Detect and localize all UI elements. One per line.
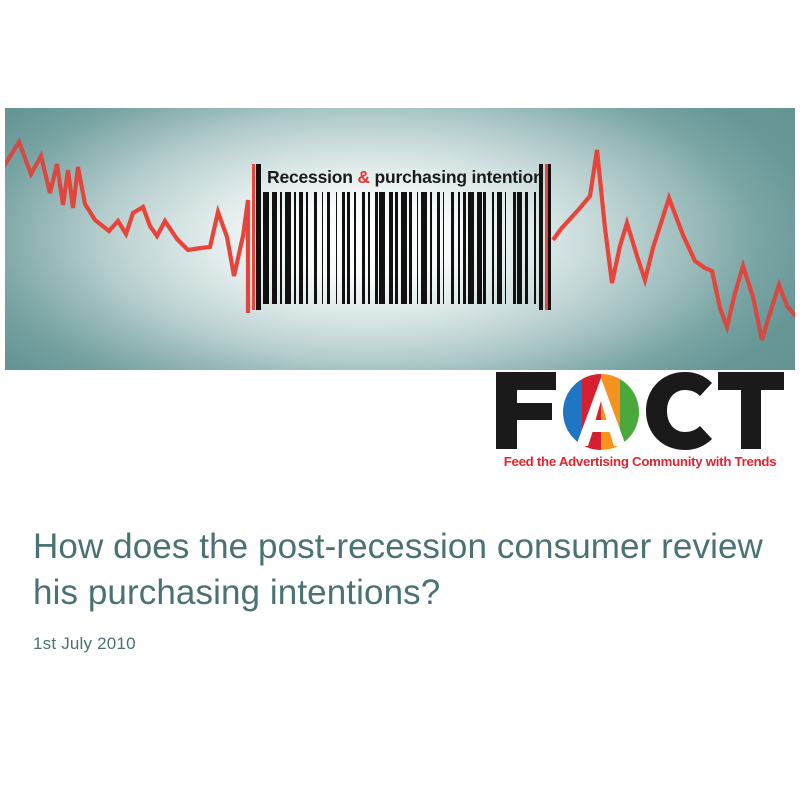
barcode-bar xyxy=(395,192,398,304)
barcode-guard-bar xyxy=(548,164,551,310)
barcode-graphic: Recession & purchasing intention xyxy=(243,164,553,309)
barcode-bar xyxy=(342,192,345,304)
title-block: How does the post-recession consumer rev… xyxy=(33,524,773,654)
barcode-guard-bar xyxy=(256,164,261,310)
fact-letter-f xyxy=(496,372,556,449)
barcode-bar xyxy=(285,192,291,304)
barcode-bar xyxy=(525,192,528,304)
fact-tagline: Feed the Advertising Community with Tren… xyxy=(490,454,790,469)
barcode-bar xyxy=(437,192,440,304)
barcode-bar xyxy=(327,192,330,304)
barcode-bar xyxy=(492,192,494,304)
barcode-bar xyxy=(443,192,445,304)
barcode-bar xyxy=(375,192,378,304)
barcode-bar xyxy=(401,192,407,304)
barcode-bar xyxy=(517,192,522,304)
fact-wordmark xyxy=(490,368,790,453)
barcode-bar xyxy=(379,192,385,304)
barcode-bars xyxy=(243,192,553,304)
barcode-bar xyxy=(534,192,536,304)
slide-date: 1st July 2010 xyxy=(33,634,773,654)
barcode-bar xyxy=(451,192,454,304)
barcode-bar xyxy=(362,192,365,304)
fact-letter-c xyxy=(646,372,712,450)
fact-letter-t xyxy=(718,372,784,449)
barcode-bar xyxy=(468,192,474,304)
barcode-bar xyxy=(430,192,432,304)
barcode-bar xyxy=(347,192,350,304)
barcode-bar xyxy=(497,192,502,304)
barcode-bar xyxy=(417,192,419,304)
trend-line-right xyxy=(553,150,795,340)
barcode-bar xyxy=(314,192,317,304)
barcode-bar xyxy=(505,192,507,304)
barcode-caption-prefix: Recession xyxy=(267,167,357,187)
barcode-caption-suffix: purchasing intention xyxy=(370,167,544,187)
hero-banner: Recession & purchasing intention xyxy=(5,108,795,370)
barcode-bar xyxy=(322,192,324,304)
barcode-caption-ampersand: & xyxy=(357,167,369,187)
barcode-bar xyxy=(513,192,516,304)
barcode-bar xyxy=(483,192,486,304)
barcode-bar xyxy=(263,192,269,304)
fact-letter-a-mark xyxy=(563,374,639,450)
barcode-bar xyxy=(368,192,370,304)
barcode-bar xyxy=(306,192,308,304)
barcode-bar xyxy=(299,192,304,304)
page-title: How does the post-recession consumer rev… xyxy=(33,524,773,616)
trend-line-left xyxy=(5,142,248,313)
barcode-bar xyxy=(280,192,282,304)
barcode-bar xyxy=(463,192,466,304)
fact-logo: Feed the Advertising Community with Tren… xyxy=(490,368,790,478)
barcode-bar xyxy=(409,192,412,304)
barcode-bar xyxy=(477,192,482,304)
barcode-guard-bar xyxy=(539,164,543,310)
barcode-guard-left xyxy=(252,164,255,310)
barcode-bar xyxy=(272,192,277,304)
barcode-bar xyxy=(294,192,296,304)
barcode-caption: Recession & purchasing intention xyxy=(267,164,544,190)
barcode-bar xyxy=(389,192,394,304)
barcode-bar xyxy=(421,192,427,304)
barcode-bar xyxy=(336,192,338,304)
barcode-bar xyxy=(354,192,356,304)
barcode-bar xyxy=(458,192,460,304)
